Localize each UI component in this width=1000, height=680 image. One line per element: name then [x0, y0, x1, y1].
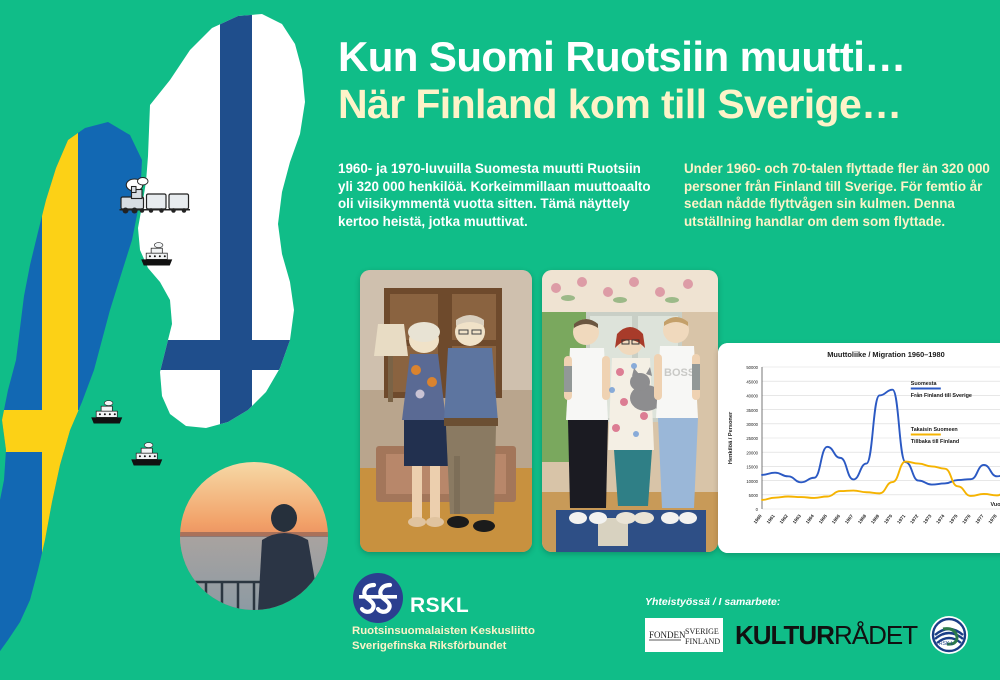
ferry-boat-icon: [131, 443, 162, 466]
poster-root: Kun Suomi Ruotsiin muutti… När Finland k…: [0, 0, 1000, 680]
rskl-name-finnish: Ruotsinsuomalaisten Keskusliitto: [352, 624, 572, 639]
y-tick-label: 30000: [746, 422, 758, 427]
intro-column-finnish: 1960- ja 1970-luvuilla Suomesta muutti R…: [338, 160, 656, 231]
ferry-boat-icon: [91, 401, 122, 424]
intro-text-finnish: 1960- ja 1970-luvuilla Suomesta muutti R…: [338, 160, 656, 231]
rskl-name-swedish: Sverigefinska Riksförbundet: [352, 639, 572, 654]
legend-label-sv-1: Tillbaka till Finland: [911, 439, 959, 445]
y-tick-label: 10000: [746, 479, 758, 484]
migration-line-chart: 0500010000150002000025000300003500040000…: [718, 343, 1000, 553]
y-tick-label: 25000: [746, 436, 758, 441]
fonden-line3: FINLAND: [685, 637, 720, 646]
fonden-line2: SVERIGE: [685, 627, 719, 636]
rskl-logo-block: RSKL Ruotsinsuomalaisten Keskusliitto Sv…: [352, 572, 572, 652]
circular-partner-logo: RSK-L: [929, 615, 969, 655]
rskl-abbreviation: RSKL: [410, 578, 469, 618]
y-axis-label: Henkilöä / Personer: [728, 411, 734, 464]
chart-title: Muuttoliike / Migration 1960–1980: [827, 350, 944, 359]
x-axis-label: Vuosi /: [991, 502, 1000, 508]
y-tick-label: 15000: [746, 465, 758, 470]
rskl-logo-icon: [352, 572, 404, 624]
partners-label: Yhteistyössä / I samarbete:: [645, 596, 1000, 608]
headline-finnish: Kun Suomi Ruotsiin muutti…: [338, 34, 1000, 79]
y-tick-label: 40000: [746, 394, 758, 399]
y-tick-label: 45000: [746, 379, 758, 384]
migration-chart-card: 0500010000150002000025000300003500040000…: [718, 343, 1000, 553]
partners-block: Yhteistyössä / I samarbete: FONDEN SVERI…: [645, 596, 1000, 655]
headline-swedish: När Finland kom till Sverige…: [338, 82, 1000, 126]
legend-label-fi-1: Takaisin Suomeen: [911, 427, 958, 433]
headline-block: Kun Suomi Ruotsiin muutti… När Finland k…: [338, 34, 1000, 127]
legend-label-sv-0: Från Finland till Sverige: [911, 392, 972, 399]
svg-text:BOSS: BOSS: [664, 367, 695, 379]
kulturradet-light: RÅDET: [834, 620, 917, 650]
fonden-sverige-finland-logo: FONDEN SVERIGE FINLAND: [645, 618, 723, 652]
photo-sunset: [180, 462, 328, 610]
kulturradet-logo: KULTURRÅDET: [735, 620, 917, 651]
y-tick-label: 50000: [746, 365, 758, 370]
intro-columns: 1960- ja 1970-luvuilla Suomesta muutti R…: [338, 160, 1000, 231]
photo-couple: [360, 270, 532, 552]
y-tick-label: 5000: [749, 493, 759, 498]
y-tick-label: 20000: [746, 450, 758, 455]
fonden-line1: FONDEN: [649, 630, 686, 640]
kulturradet-bold: KULTUR: [735, 620, 834, 650]
photo-family: BOSS: [542, 270, 718, 552]
intro-text-swedish: Under 1960- och 70-talen flyttade fler ä…: [684, 160, 1000, 231]
intro-column-swedish: Under 1960- och 70-talen flyttade fler ä…: [684, 160, 1000, 231]
circular-logo-text: RSK-L: [939, 641, 954, 647]
y-tick-label: 35000: [746, 408, 758, 413]
legend-label-fi-0: Suomesta: [911, 381, 938, 387]
